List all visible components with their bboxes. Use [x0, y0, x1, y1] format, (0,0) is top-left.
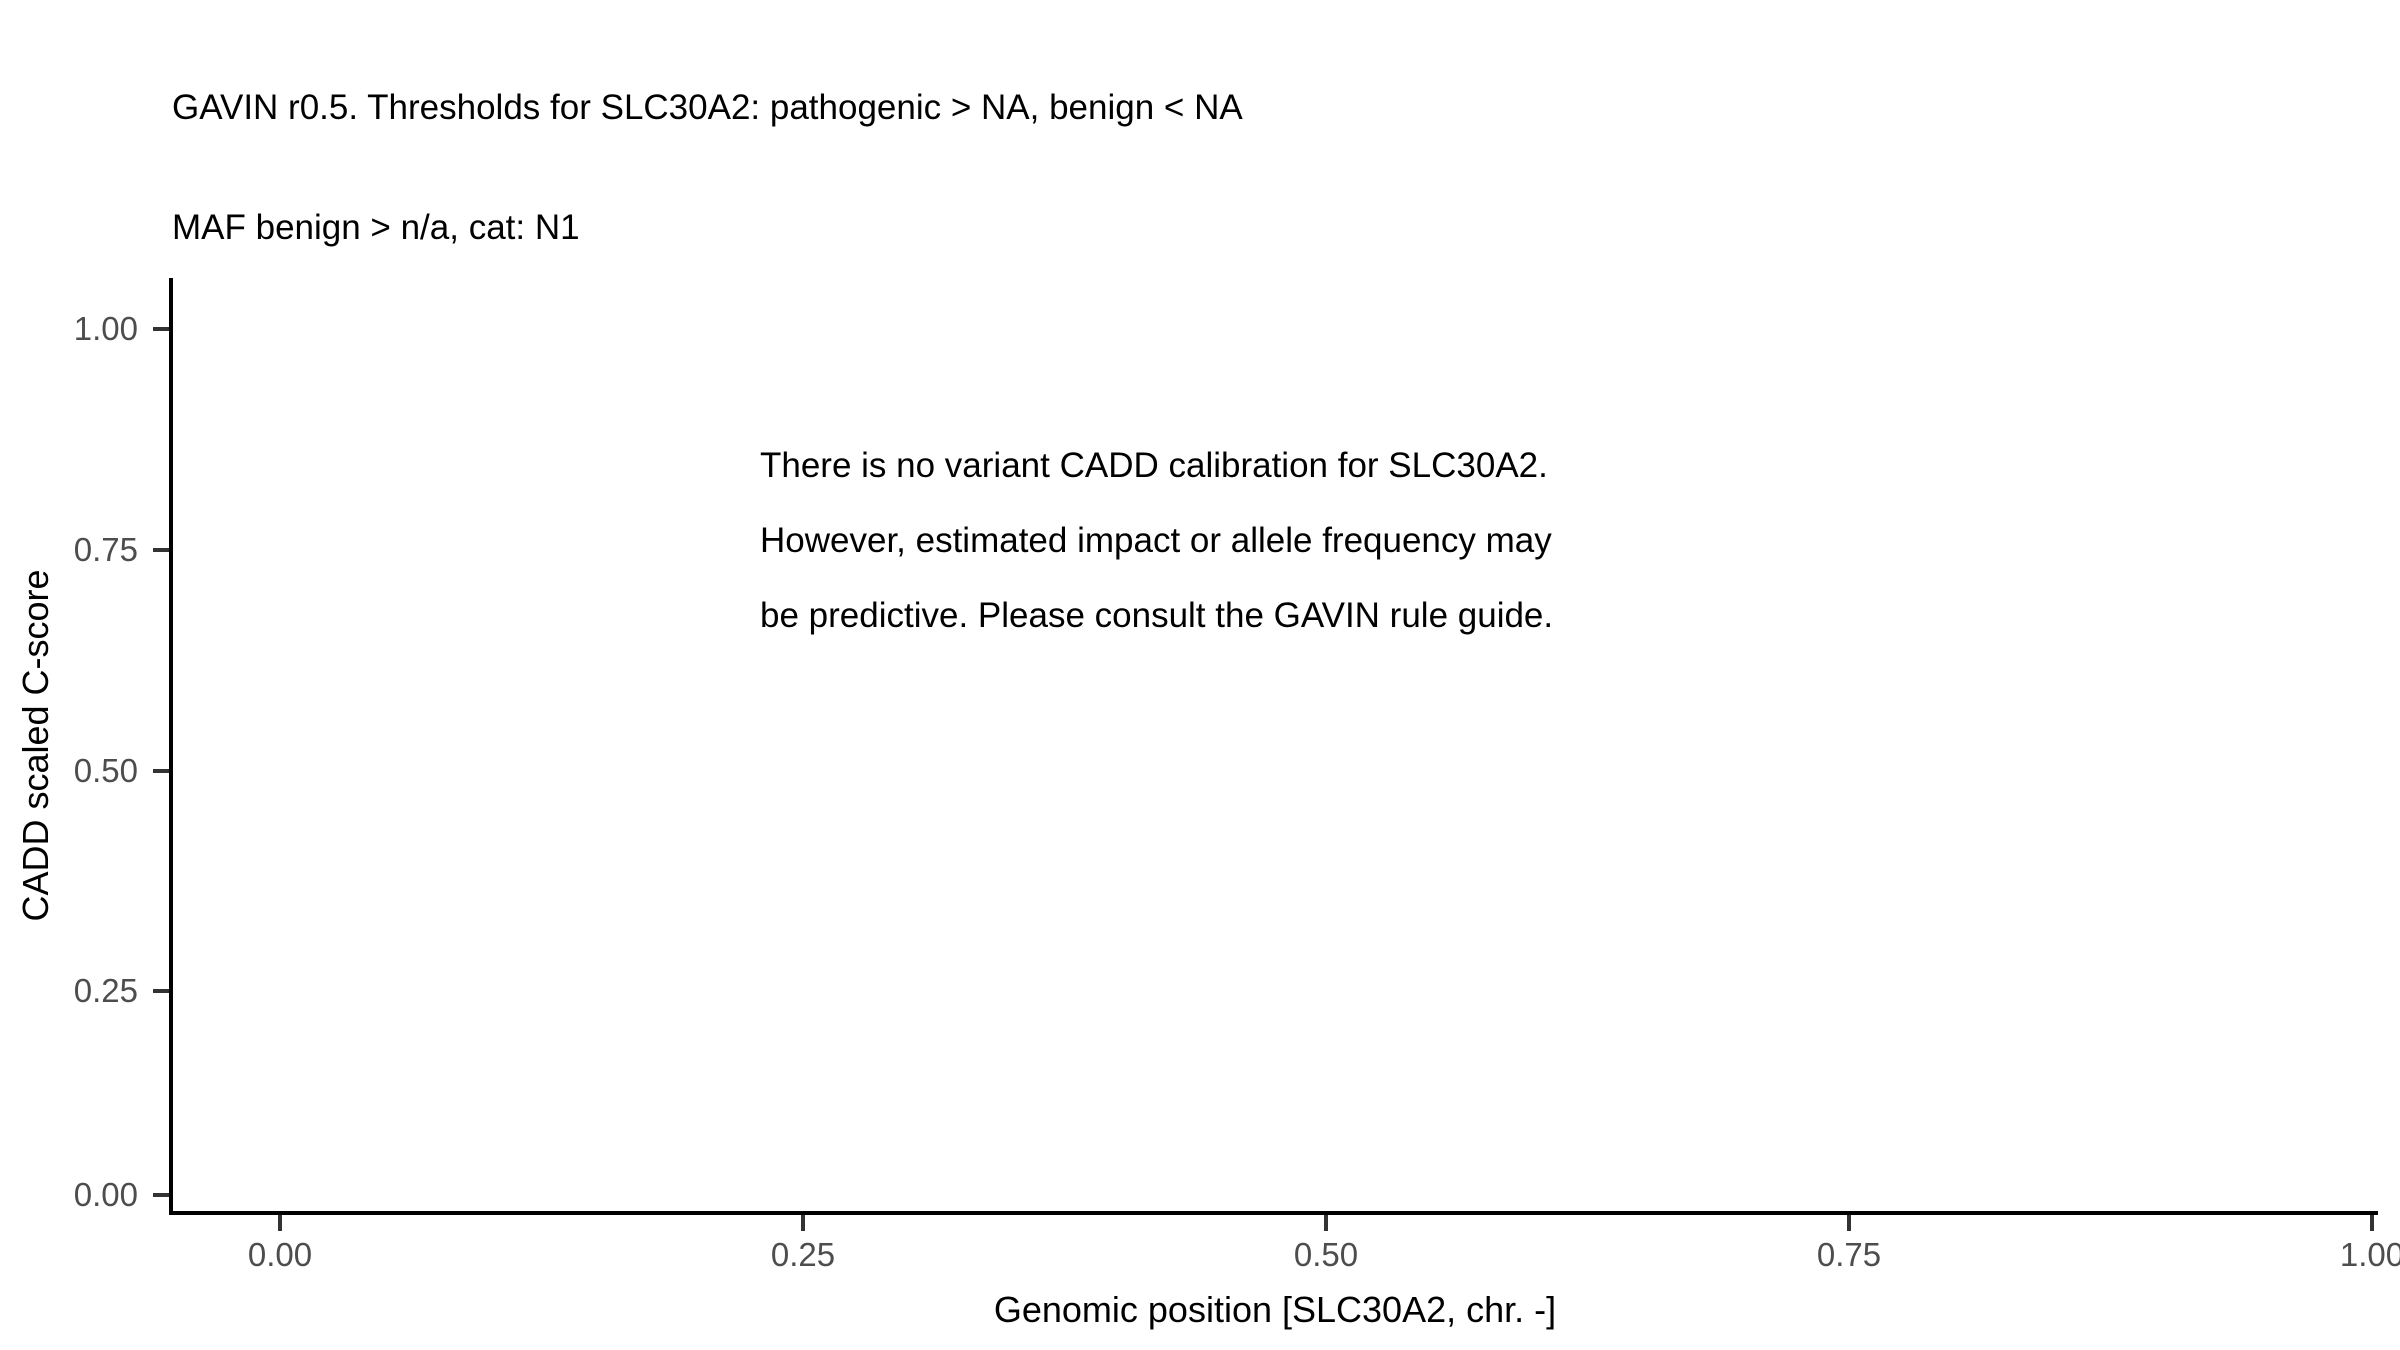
x-tick-label-3: 0.75	[1769, 1238, 1929, 1271]
y-tick-mark-1	[153, 989, 169, 993]
y-tick-mark-4	[153, 327, 169, 331]
x-tick-label-0: 0.00	[200, 1238, 360, 1271]
plot-title-line-2: MAF benign > n/a, cat: N1	[172, 208, 2382, 248]
y-tick-mark-2	[153, 769, 169, 773]
x-tick-label-2: 0.50	[1246, 1238, 1406, 1271]
x-tick-label-4: 1.00	[2292, 1238, 2400, 1271]
x-tick-label-1: 0.25	[723, 1238, 883, 1271]
x-tick-mark-0	[278, 1215, 282, 1231]
y-axis-title-wrapper: CADD scaled C-score	[14, 278, 58, 1213]
y-axis-title: CADD scaled C-score	[14, 278, 58, 1213]
no-calibration-annotation: There is no variant CADD calibration for…	[760, 428, 1860, 653]
plot-title-line-1: GAVIN r0.5. Thresholds for SLC30A2: path…	[172, 88, 2382, 128]
annotation-line-2: However, estimated impact or allele freq…	[760, 503, 1860, 578]
x-tick-mark-2	[1324, 1215, 1328, 1231]
x-tick-mark-4	[2370, 1215, 2374, 1231]
x-axis-title: Genomic position [SLC30A2, chr. -]	[172, 1288, 2378, 1332]
annotation-line-3: be predictive. Please consult the GAVIN …	[760, 578, 1860, 653]
x-tick-mark-1	[801, 1215, 805, 1231]
panel-background	[172, 278, 2378, 1213]
x-tick-mark-3	[1847, 1215, 1851, 1231]
x-axis-line	[169, 1211, 2378, 1215]
y-axis-line	[169, 278, 173, 1215]
plot-panel	[172, 278, 2378, 1213]
y-tick-mark-3	[153, 548, 169, 552]
annotation-line-1: There is no variant CADD calibration for…	[760, 428, 1860, 503]
y-tick-mark-0	[153, 1193, 169, 1197]
